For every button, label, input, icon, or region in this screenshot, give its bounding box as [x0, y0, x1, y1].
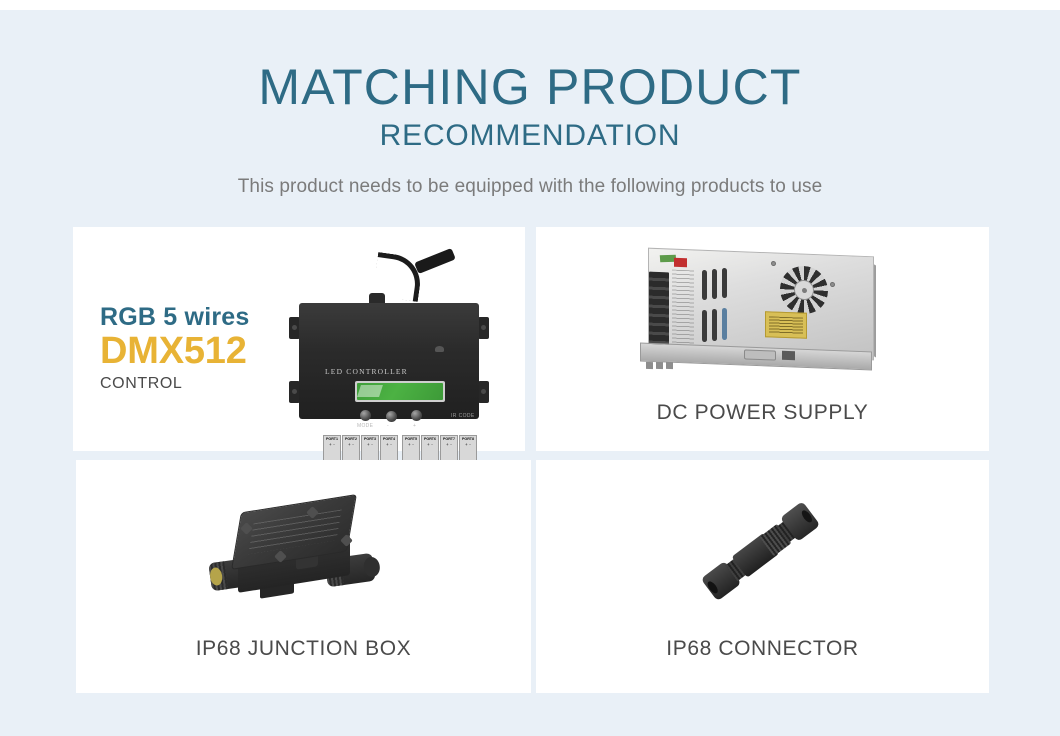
controller-port-group-right: PORT5+ - PORT6+ - PORT7+ - PORT8+ -	[402, 435, 477, 461]
controller-port: PORT6+ -	[421, 435, 439, 461]
psu-fan-grille	[780, 265, 828, 315]
psu-rating-label	[765, 311, 807, 339]
psu-vent-slot	[702, 270, 707, 300]
psu-vent-slot	[722, 268, 727, 298]
product-card-dmx512-controller[interactable]: RGB 5 wires DMX512 CONTROL LED CONTROLLE…	[73, 227, 525, 451]
controller-button-minus[interactable]	[386, 411, 397, 422]
psu-screw	[830, 282, 835, 287]
product-card-ip68-junction-box[interactable]: IP68 JUNCTION BOX	[76, 460, 531, 693]
controller-port: PORT2+ -	[342, 435, 360, 461]
controller-ir-code-text: IR CODE	[451, 413, 475, 419]
controller-port: PORT4+ -	[380, 435, 398, 461]
dc-power-supply-image	[640, 252, 880, 374]
psu-front-slot	[744, 349, 776, 360]
matching-product-page: MATCHING PRODUCT RECOMMENDATION This pro…	[0, 0, 1060, 736]
product-label-ip68-connector: IP68 CONNECTOR	[536, 635, 989, 663]
controller-button-label-minus: -	[387, 423, 389, 429]
page-header: MATCHING PRODUCT RECOMMENDATION This pro…	[0, 58, 1060, 200]
page-subtitle-heading: RECOMMENDATION	[0, 117, 1060, 155]
controller-button-label-mode: MODE	[357, 423, 373, 429]
controller-lcd-backlight	[357, 383, 443, 400]
psu-terminal-block	[649, 272, 669, 351]
controller-port: PORT1+ -	[323, 435, 341, 461]
controller-lcd-screen	[355, 381, 445, 402]
controller-port-pins: + -	[362, 442, 378, 447]
psu-vent-slot	[702, 310, 707, 342]
controller-port: PORT8+ -	[459, 435, 477, 461]
controller-body: LED CONTROLLER MODE - + IR CODE PORT1+ -…	[299, 303, 479, 419]
controller-port-pins: + -	[381, 442, 397, 447]
controller-screw	[435, 346, 444, 352]
dmx512-line-1: RGB 5 wires	[100, 303, 249, 331]
psu-vent-slot	[722, 308, 727, 340]
product-card-grid: RGB 5 wires DMX512 CONTROL LED CONTROLLE…	[73, 227, 989, 693]
controller-port-pins: + -	[460, 442, 476, 447]
controller-button-plus[interactable]	[411, 410, 422, 421]
controller-port-pins: + -	[343, 442, 359, 447]
controller-port-pins: + -	[403, 442, 419, 447]
psu-screw	[771, 261, 776, 266]
psu-foot	[646, 362, 653, 369]
product-card-dc-power-supply[interactable]: DC POWER SUPPLY	[536, 227, 989, 451]
controller-port-pins: + -	[441, 442, 457, 447]
controller-port: PORT7+ -	[440, 435, 458, 461]
product-card-ip68-connector[interactable]: IP68 CONNECTOR	[536, 460, 989, 693]
product-label-ip68-junction-box: IP68 JUNCTION BOX	[76, 635, 531, 663]
dmx512-line-3: CONTROL	[100, 374, 249, 394]
controller-button-label-plus: +	[413, 423, 416, 429]
led-controller-image: LED CONTROLLER MODE - + IR CODE PORT1+ -…	[289, 255, 489, 430]
controller-button-mode[interactable]	[360, 410, 371, 421]
product-label-dc-power-supply: DC POWER SUPPLY	[536, 399, 989, 427]
controller-cable-segment	[414, 248, 456, 274]
controller-mount-ear	[478, 317, 489, 339]
psu-brand-logo	[674, 258, 687, 267]
ip68-junction-box-image	[208, 498, 398, 618]
psu-vent-slot	[712, 309, 717, 341]
psu-foot	[666, 362, 673, 369]
controller-port: PORT3+ -	[361, 435, 379, 461]
controller-brand-text: LED CONTROLLER	[325, 367, 408, 376]
ip68-connector-image	[671, 462, 851, 641]
dmx512-text-overlay: RGB 5 wires DMX512 CONTROL	[100, 303, 249, 394]
dmx512-line-2: DMX512	[100, 330, 249, 372]
psu-fan-hub	[794, 280, 814, 301]
controller-port: PORT5+ -	[402, 435, 420, 461]
psu-foot	[656, 362, 663, 369]
connector-assembly	[700, 501, 820, 602]
controller-port-pins: + -	[324, 442, 340, 447]
controller-mount-ear	[478, 381, 489, 403]
page-title: MATCHING PRODUCT	[0, 58, 1060, 116]
page-description: This product needs to be equipped with t…	[0, 174, 1060, 200]
psu-vent-slot	[712, 269, 717, 299]
psu-front-connector	[782, 351, 795, 360]
controller-port-group-left: PORT1+ - PORT2+ - PORT3+ - PORT4+ -	[323, 435, 398, 461]
controller-port-pins: + -	[422, 442, 438, 447]
psu-spec-text-column	[672, 270, 694, 349]
